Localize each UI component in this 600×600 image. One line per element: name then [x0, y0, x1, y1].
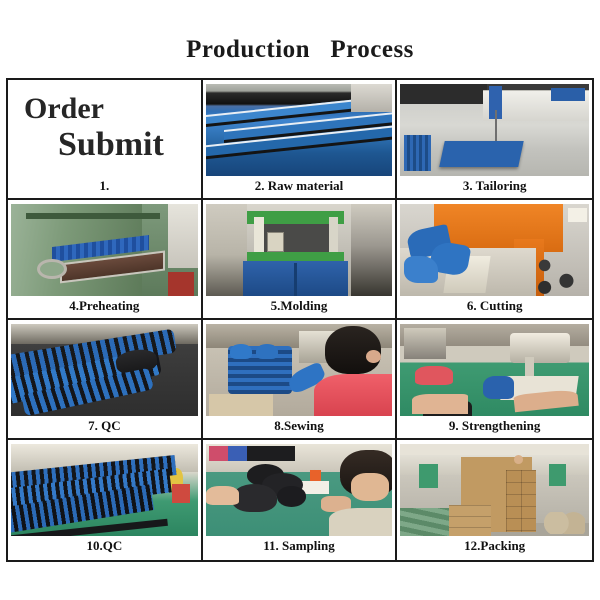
process-cell-qc-second[interactable]: 10.QC — [8, 440, 203, 560]
process-cell-molding[interactable]: 5.Molding — [203, 200, 398, 320]
cutting-photo — [400, 204, 589, 296]
process-caption-6: 6. Cutting — [400, 296, 589, 316]
order-heading-line1: Order — [16, 92, 193, 126]
process-cell-preheating[interactable]: 4.Preheating — [8, 200, 203, 320]
process-caption-1: 1. — [8, 176, 201, 198]
process-cell-order-submit[interactable]: Order Submit 1. — [8, 80, 203, 200]
process-caption-11: 11. Sampling — [206, 536, 393, 556]
sewing-photo — [206, 324, 393, 416]
tailoring-photo — [400, 84, 589, 176]
process-cell-packing[interactable]: 12.Packing — [397, 440, 592, 560]
process-caption-4: 4.Preheating — [11, 296, 198, 316]
raw-material-photo — [206, 84, 393, 176]
process-caption-5: 5.Molding — [206, 296, 393, 316]
page-title: Production Process — [0, 36, 600, 64]
process-grid: Order Submit 1. 2. Raw material 3. Tailo… — [6, 78, 594, 562]
process-cell-sewing[interactable]: 8.Sewing — [203, 320, 398, 440]
process-cell-tailoring[interactable]: 3. Tailoring — [397, 80, 592, 200]
molding-photo — [206, 204, 393, 296]
process-caption-8: 8.Sewing — [206, 416, 393, 436]
order-submit-heading: Order Submit — [8, 80, 201, 164]
packing-photo — [400, 444, 589, 536]
process-cell-strengthening[interactable]: 9. Strengthening — [397, 320, 592, 440]
process-cell-sampling[interactable]: 11. Sampling — [203, 440, 398, 560]
process-cell-raw-material[interactable]: 2. Raw material — [203, 80, 398, 200]
process-caption-7: 7. QC — [11, 416, 198, 436]
preheating-photo — [11, 204, 198, 296]
process-cell-qc-first[interactable]: 7. QC — [8, 320, 203, 440]
process-caption-3: 3. Tailoring — [400, 176, 589, 196]
strengthening-photo — [400, 324, 589, 416]
order-heading-line2: Submit — [16, 126, 193, 164]
qc-first-photo — [11, 324, 198, 416]
qc-second-photo — [11, 444, 198, 536]
sampling-photo — [206, 444, 393, 536]
process-caption-10: 10.QC — [11, 536, 198, 556]
process-caption-12: 12.Packing — [400, 536, 589, 556]
process-caption-2: 2. Raw material — [206, 176, 393, 196]
production-process-poster: Production Process Order Submit 1. 2. Ra… — [0, 0, 600, 600]
process-caption-9: 9. Strengthening — [400, 416, 589, 436]
process-cell-cutting[interactable]: 6. Cutting — [397, 200, 592, 320]
